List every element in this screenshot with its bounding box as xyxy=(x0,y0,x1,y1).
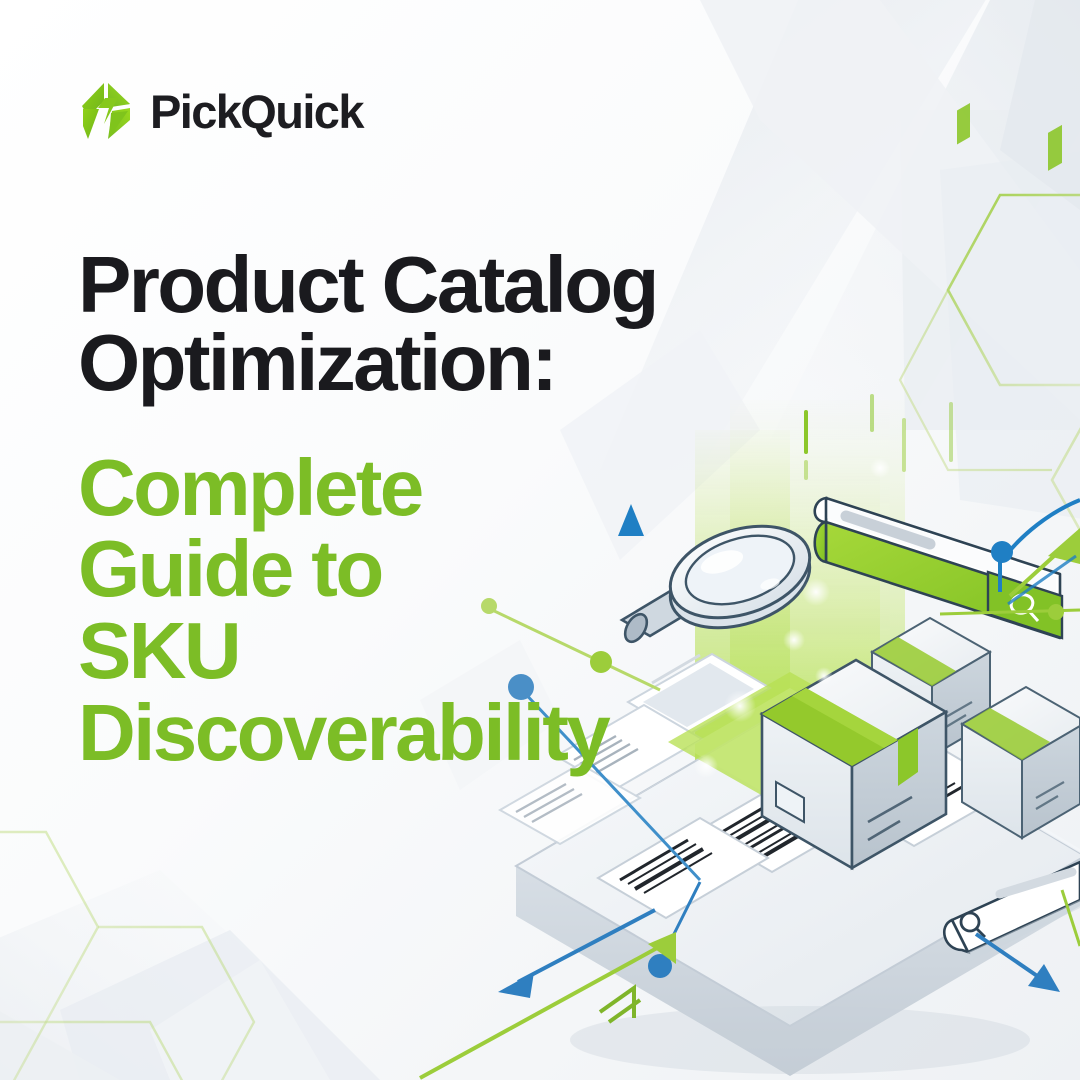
poster-canvas: PickQuick Product Catalog Optimization: … xyxy=(0,0,1080,1080)
headline-line: SKU xyxy=(78,610,798,692)
headline-line: Discoverability xyxy=(78,692,798,774)
headline-line: Guide to xyxy=(78,528,798,610)
headline-line: Product Catalog xyxy=(78,246,798,324)
brand-logo[interactable]: PickQuick xyxy=(78,80,363,142)
headline-green: Complete Guide to SKU Discoverability xyxy=(78,447,798,773)
lightning-bolt-logo-icon xyxy=(78,80,134,142)
headline-line: Complete xyxy=(78,447,798,529)
headline-block: Product Catalog Optimization: Complete G… xyxy=(78,246,798,773)
brand-name: PickQuick xyxy=(150,88,363,135)
headline-line: Optimization: xyxy=(78,324,798,402)
headline-dark: Product Catalog Optimization: xyxy=(78,246,798,403)
